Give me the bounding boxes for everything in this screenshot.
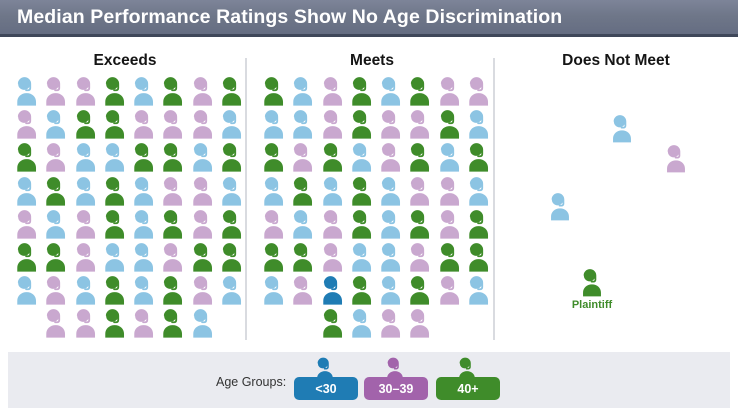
pictogram-grid-meets: [259, 74, 493, 340]
pictogram-person-purple[interactable]: [71, 74, 100, 107]
pictogram-person-green[interactable]: [347, 174, 376, 207]
person-headset-icon: [71, 74, 100, 107]
pictogram-row: [259, 306, 493, 339]
pictogram-person-purple[interactable]: [129, 306, 158, 339]
pictogram-person-green[interactable]: [100, 174, 129, 207]
person-headset-icon: [288, 140, 317, 173]
person-headset-icon: [129, 140, 158, 173]
pictogram-person-blue[interactable]: [71, 174, 100, 207]
pictogram-person-green[interactable]: [71, 107, 100, 140]
pictogram-person-purple[interactable]: [318, 240, 347, 273]
person-headset-icon: [71, 107, 100, 140]
person-headset-icon: [288, 74, 317, 107]
person-headset-icon: [188, 207, 217, 240]
person-headset-icon: [259, 74, 288, 107]
person-headset-icon: [100, 240, 129, 273]
person-headset-icon: [376, 174, 405, 207]
slide-canvas: Median Performance Ratings Show No Age D…: [0, 0, 738, 415]
scatter-person-purple[interactable]: [662, 142, 690, 174]
person-headset-icon: [405, 306, 434, 339]
pictogram-person-green[interactable]: [217, 74, 246, 107]
person-headset-icon: [100, 306, 129, 339]
pictogram-person-green[interactable]: [41, 240, 70, 273]
pictogram-person-purple[interactable]: [435, 207, 464, 240]
person-headset-icon: [405, 207, 434, 240]
person-headset-icon: [71, 273, 100, 306]
pictogram-person-blue[interactable]: [259, 273, 288, 306]
pictogram-person-purple[interactable]: [435, 74, 464, 107]
pictogram-person-green[interactable]: [217, 140, 246, 173]
person-headset-icon: [259, 207, 288, 240]
pictogram-person-purple[interactable]: [405, 107, 434, 140]
pictogram-person-purple[interactable]: [259, 207, 288, 240]
pictogram-person-purple[interactable]: [71, 207, 100, 240]
person-headset-icon: [318, 107, 347, 140]
person-headset-icon: [100, 107, 129, 140]
pictogram-person-green[interactable]: [405, 207, 434, 240]
pictogram-person-blue[interactable]: [376, 207, 405, 240]
pictogram-person-blue[interactable]: [217, 273, 246, 306]
pictogram-person-green[interactable]: [100, 107, 129, 140]
person-headset-icon: [376, 140, 405, 173]
person-headset-icon: [12, 207, 41, 240]
pictogram-person-blue[interactable]: [12, 174, 41, 207]
person-headset-icon: [464, 240, 493, 273]
person-headset-icon: [662, 142, 690, 174]
pictogram-row: [12, 74, 246, 107]
pictogram-person-green[interactable]: [129, 140, 158, 173]
pictogram-person-purple[interactable]: [188, 273, 217, 306]
person-headset-icon: [41, 174, 70, 207]
pictogram-person-purple[interactable]: [288, 273, 317, 306]
person-headset-icon: [347, 107, 376, 140]
person-headset-icon: [376, 207, 405, 240]
pictogram-person-purple[interactable]: [41, 74, 70, 107]
person-headset-icon: [158, 140, 187, 173]
pictogram-person-blue[interactable]: [71, 140, 100, 173]
person-headset-icon: [288, 240, 317, 273]
pictogram-person-green[interactable]: [259, 74, 288, 107]
person-headset-icon: [217, 273, 246, 306]
pictogram-person-purple[interactable]: [158, 240, 187, 273]
person-headset-icon: [578, 266, 606, 298]
pictogram-row: [259, 74, 493, 107]
person-headset-icon: [435, 107, 464, 140]
person-headset-icon: [217, 207, 246, 240]
pictogram-person-blue[interactable]: [100, 140, 129, 173]
pictogram-row: [259, 107, 493, 140]
person-headset-icon: [608, 112, 636, 144]
person-headset-icon: [464, 174, 493, 207]
person-headset-icon: [376, 74, 405, 107]
person-headset-icon: [405, 174, 434, 207]
pictogram-row: [12, 107, 246, 140]
legend-value-pill[interactable]: 40+: [436, 377, 500, 400]
person-headset-icon: [217, 107, 246, 140]
legend-item-under-30[interactable]: <30: [290, 355, 362, 405]
pictogram-person-purple[interactable]: [12, 207, 41, 240]
pictogram-person-green[interactable]: [188, 240, 217, 273]
person-headset-icon: [41, 207, 70, 240]
pictogram-person-blue[interactable]: [288, 207, 317, 240]
pictogram-person-purple[interactable]: [188, 207, 217, 240]
person-headset-icon: [347, 306, 376, 339]
person-headset-icon: [41, 240, 70, 273]
legend-item-40-plus[interactable]: 40+: [432, 355, 504, 405]
pictogram-person-blue[interactable]: [129, 207, 158, 240]
pictogram-row: [259, 140, 493, 173]
pictogram-person-blue[interactable]: [12, 74, 41, 107]
pictogram-person-blue[interactable]: [129, 240, 158, 273]
person-headset-icon: [288, 107, 317, 140]
person-headset-icon: [188, 240, 217, 273]
pictogram-person-purple[interactable]: [435, 174, 464, 207]
pictogram-person-blue[interactable]: [347, 240, 376, 273]
pictogram-person-purple[interactable]: [71, 240, 100, 273]
person-headset-icon: [288, 273, 317, 306]
person-headset-icon: [158, 240, 187, 273]
person-headset-icon: [41, 107, 70, 140]
pictogram-person-purple[interactable]: [12, 107, 41, 140]
person-headset-icon: [546, 190, 574, 222]
pictogram-person-blue[interactable]: [129, 74, 158, 107]
pictogram-row: [12, 240, 246, 273]
person-headset-icon: [100, 207, 129, 240]
pictogram-person-green[interactable]: [41, 174, 70, 207]
pictogram-person-blue[interactable]: [464, 273, 493, 306]
pictogram-person-green[interactable]: [100, 74, 129, 107]
pictogram-row: [259, 174, 493, 207]
pictogram-person-green[interactable]: [158, 140, 187, 173]
person-headset-icon: [259, 174, 288, 207]
person-headset-icon: [12, 174, 41, 207]
person-headset-icon: [129, 174, 158, 207]
person-headset-icon: [158, 306, 187, 339]
person-headset-icon: [217, 174, 246, 207]
pictogram-person-blue[interactable]: [12, 273, 41, 306]
pictogram-person-purple[interactable]: [318, 107, 347, 140]
pictogram-person-green[interactable]: [347, 273, 376, 306]
pictogram-person-purple[interactable]: [405, 240, 434, 273]
pictogram-person-green[interactable]: [158, 207, 187, 240]
person-headset-icon: [188, 107, 217, 140]
pictogram-person-green[interactable]: [464, 140, 493, 173]
pictogram-row: [12, 174, 246, 207]
pictogram-person-green[interactable]: [100, 273, 129, 306]
pictogram-person-purple[interactable]: [376, 306, 405, 339]
pictogram-person-blue[interactable]: [347, 306, 376, 339]
person-headset-icon: [376, 306, 405, 339]
pictogram-person-purple[interactable]: [464, 74, 493, 107]
person-headset-icon: [129, 240, 158, 273]
page-title: Median Performance Ratings Show No Age D…: [17, 6, 562, 29]
pictogram-row: [12, 140, 246, 173]
person-headset-icon: [376, 107, 405, 140]
pictogram-person-green[interactable]: [347, 74, 376, 107]
person-headset-icon: [318, 207, 347, 240]
pictogram-person-purple[interactable]: [405, 306, 434, 339]
pictogram-person-purple[interactable]: [188, 107, 217, 140]
person-headset-icon: [435, 207, 464, 240]
person-headset-icon: [288, 207, 317, 240]
person-headset-icon: [12, 107, 41, 140]
person-headset-icon: [259, 140, 288, 173]
pictogram-person-blue_dark[interactable]: [318, 273, 347, 306]
person-headset-icon: [318, 306, 347, 339]
pictogram-person-purple[interactable]: [41, 273, 70, 306]
pictogram-person-green[interactable]: [259, 240, 288, 273]
person-headset-icon: [464, 207, 493, 240]
pictogram-person-green[interactable]: [288, 174, 317, 207]
pictogram-row: [259, 240, 493, 273]
pictogram-person-green[interactable]: [347, 207, 376, 240]
person-headset-icon: [12, 273, 41, 306]
pictogram-row: [12, 273, 246, 306]
pictogram-person-blue[interactable]: [71, 273, 100, 306]
pictogram-person-purple[interactable]: [188, 174, 217, 207]
pictogram-person-green[interactable]: [288, 240, 317, 273]
pictogram-person-blue[interactable]: [259, 174, 288, 207]
person-headset-icon: [71, 140, 100, 173]
pictogram-person-purple[interactable]: [288, 140, 317, 173]
pictogram-person-green[interactable]: [12, 140, 41, 173]
pictogram-grid-exceeds: [12, 74, 246, 340]
person-headset-icon: [71, 174, 100, 207]
person-headset-icon: [376, 240, 405, 273]
pictogram-person-green[interactable]: [464, 240, 493, 273]
person-headset-icon: [188, 273, 217, 306]
person-headset-icon: [129, 273, 158, 306]
person-headset-icon: [188, 140, 217, 173]
pictogram-person-green[interactable]: [347, 107, 376, 140]
person-headset-icon: [288, 174, 317, 207]
person-headset-icon: [464, 140, 493, 173]
pictogram-person-blue[interactable]: [288, 107, 317, 140]
person-headset-icon: [435, 174, 464, 207]
pictogram-person-purple[interactable]: [188, 74, 217, 107]
pictogram-person-blue[interactable]: [129, 273, 158, 306]
plaintiff-label: Plaintiff: [557, 299, 627, 311]
person-headset-icon: [318, 174, 347, 207]
person-headset-icon: [318, 74, 347, 107]
legend-value-pill[interactable]: <30: [294, 377, 358, 400]
person-headset-icon: [405, 273, 434, 306]
slide-header: Median Performance Ratings Show No Age D…: [0, 0, 738, 37]
pictogram-person-purple[interactable]: [376, 140, 405, 173]
person-headset-icon: [347, 140, 376, 173]
pictogram-person-blue[interactable]: [435, 140, 464, 173]
person-headset-icon: [217, 74, 246, 107]
person-headset-icon: [41, 306, 70, 339]
pictogram-person-green[interactable]: [259, 140, 288, 173]
pictogram-person-blue[interactable]: [217, 174, 246, 207]
person-headset-icon: [158, 273, 187, 306]
pictogram-person-blue[interactable]: [347, 140, 376, 173]
pictogram-person-green[interactable]: [435, 107, 464, 140]
person-headset-icon: [158, 174, 187, 207]
pictogram-person-green[interactable]: [158, 273, 187, 306]
person-headset-icon: [435, 240, 464, 273]
person-headset-icon: [41, 273, 70, 306]
person-headset-icon: [158, 74, 187, 107]
pictogram-person-green[interactable]: [100, 306, 129, 339]
person-headset-icon: [217, 240, 246, 273]
pictogram-person-blue[interactable]: [100, 240, 129, 273]
person-headset-icon: [158, 207, 187, 240]
person-headset-icon: [71, 240, 100, 273]
pictogram-person-green[interactable]: [158, 74, 187, 107]
pictogram-person-green[interactable]: [318, 140, 347, 173]
pictogram-person-blue[interactable]: [217, 107, 246, 140]
column-title-exceeds: Exceeds: [10, 52, 240, 70]
pictogram-person-green[interactable]: [435, 240, 464, 273]
pictogram-person-blue[interactable]: [188, 306, 217, 339]
person-headset-icon: [129, 107, 158, 140]
person-headset-icon: [259, 273, 288, 306]
person-headset-icon: [405, 240, 434, 273]
person-headset-icon: [464, 273, 493, 306]
person-headset-icon: [347, 174, 376, 207]
person-headset-icon: [464, 107, 493, 140]
person-headset-icon: [129, 207, 158, 240]
pictogram-row: [12, 207, 246, 240]
person-headset-icon: [12, 74, 41, 107]
person-headset-icon: [71, 306, 100, 339]
pictogram-person-green[interactable]: [464, 207, 493, 240]
person-headset-icon: [259, 240, 288, 273]
person-headset-icon: [188, 74, 217, 107]
pictogram-person-green[interactable]: [405, 74, 434, 107]
pictogram-person-blue[interactable]: [376, 273, 405, 306]
pictogram-person-green[interactable]: [405, 140, 434, 173]
person-headset-icon: [435, 273, 464, 306]
legend-label: Age Groups:: [216, 375, 286, 389]
person-headset-icon: [435, 140, 464, 173]
person-headset-icon: [405, 74, 434, 107]
pictogram-scatter-does-not-meet: Plaintiff: [496, 74, 736, 340]
pictogram-person-blue[interactable]: [41, 107, 70, 140]
scatter-person-blue[interactable]: [608, 112, 636, 144]
pictogram-person-green[interactable]: [158, 306, 187, 339]
person-headset-icon: [188, 174, 217, 207]
pictogram-row: [259, 207, 493, 240]
person-headset-icon: [347, 240, 376, 273]
person-headset-icon: [12, 140, 41, 173]
person-headset-icon: [318, 240, 347, 273]
scatter-person-green[interactable]: [578, 266, 606, 298]
legend-item-30-39[interactable]: 30–39: [360, 355, 432, 405]
pictogram-person-purple[interactable]: [41, 306, 70, 339]
person-headset-icon: [259, 107, 288, 140]
pictogram-person-blue[interactable]: [188, 140, 217, 173]
pictogram-person-blue[interactable]: [376, 240, 405, 273]
pictogram-person-purple[interactable]: [376, 107, 405, 140]
pictogram-person-purple[interactable]: [129, 107, 158, 140]
person-headset-icon: [12, 240, 41, 273]
scatter-person-blue[interactable]: [546, 190, 574, 222]
pictogram-person-blue[interactable]: [376, 74, 405, 107]
pictogram-person-purple[interactable]: [41, 140, 70, 173]
person-headset-icon: [188, 306, 217, 339]
pictogram-person-blue[interactable]: [318, 174, 347, 207]
person-headset-icon: [318, 140, 347, 173]
person-headset-icon: [129, 74, 158, 107]
pictogram-person-blue[interactable]: [464, 174, 493, 207]
person-headset-icon: [217, 140, 246, 173]
pictogram-person-purple[interactable]: [71, 306, 100, 339]
pictogram-row: [259, 273, 493, 306]
column-title-does-not-meet: Does Not Meet: [500, 52, 732, 70]
pictogram-person-blue[interactable]: [288, 74, 317, 107]
pictogram-person-blue[interactable]: [376, 174, 405, 207]
pictogram-person-blue[interactable]: [129, 174, 158, 207]
pictogram-person-purple[interactable]: [318, 207, 347, 240]
pictogram-person-purple[interactable]: [318, 74, 347, 107]
person-headset-icon: [464, 74, 493, 107]
pictogram-person-blue[interactable]: [464, 107, 493, 140]
pictogram-person-purple[interactable]: [158, 107, 187, 140]
person-headset-icon: [318, 273, 347, 306]
pictogram-person-green[interactable]: [217, 207, 246, 240]
person-headset-icon: [129, 306, 158, 339]
person-headset-icon: [71, 207, 100, 240]
pictogram-person-green[interactable]: [12, 240, 41, 273]
person-headset-icon: [41, 74, 70, 107]
person-headset-icon: [376, 273, 405, 306]
person-headset-icon: [158, 107, 187, 140]
pictogram-person-green[interactable]: [318, 306, 347, 339]
person-headset-icon: [100, 273, 129, 306]
person-headset-icon: [41, 140, 70, 173]
legend-value-pill[interactable]: 30–39: [364, 377, 428, 400]
legend-bar: Age Groups: <30 30–39 40+: [8, 352, 730, 408]
column-title-meets: Meets: [256, 52, 488, 70]
pictogram-row: [12, 306, 246, 339]
pictogram-person-green[interactable]: [405, 273, 434, 306]
person-headset-icon: [347, 207, 376, 240]
person-headset-icon: [100, 74, 129, 107]
person-headset-icon: [347, 74, 376, 107]
person-headset-icon: [405, 140, 434, 173]
pictogram-person-purple[interactable]: [435, 273, 464, 306]
person-headset-icon: [435, 74, 464, 107]
person-headset-icon: [100, 174, 129, 207]
pictogram-person-purple[interactable]: [158, 174, 187, 207]
pictogram-person-purple[interactable]: [405, 174, 434, 207]
pictogram-person-green[interactable]: [217, 240, 246, 273]
pictogram-person-blue[interactable]: [259, 107, 288, 140]
pictogram-person-blue[interactable]: [41, 207, 70, 240]
person-headset-icon: [405, 107, 434, 140]
pictogram-person-green[interactable]: [100, 207, 129, 240]
person-headset-icon: [100, 140, 129, 173]
person-headset-icon: [347, 273, 376, 306]
